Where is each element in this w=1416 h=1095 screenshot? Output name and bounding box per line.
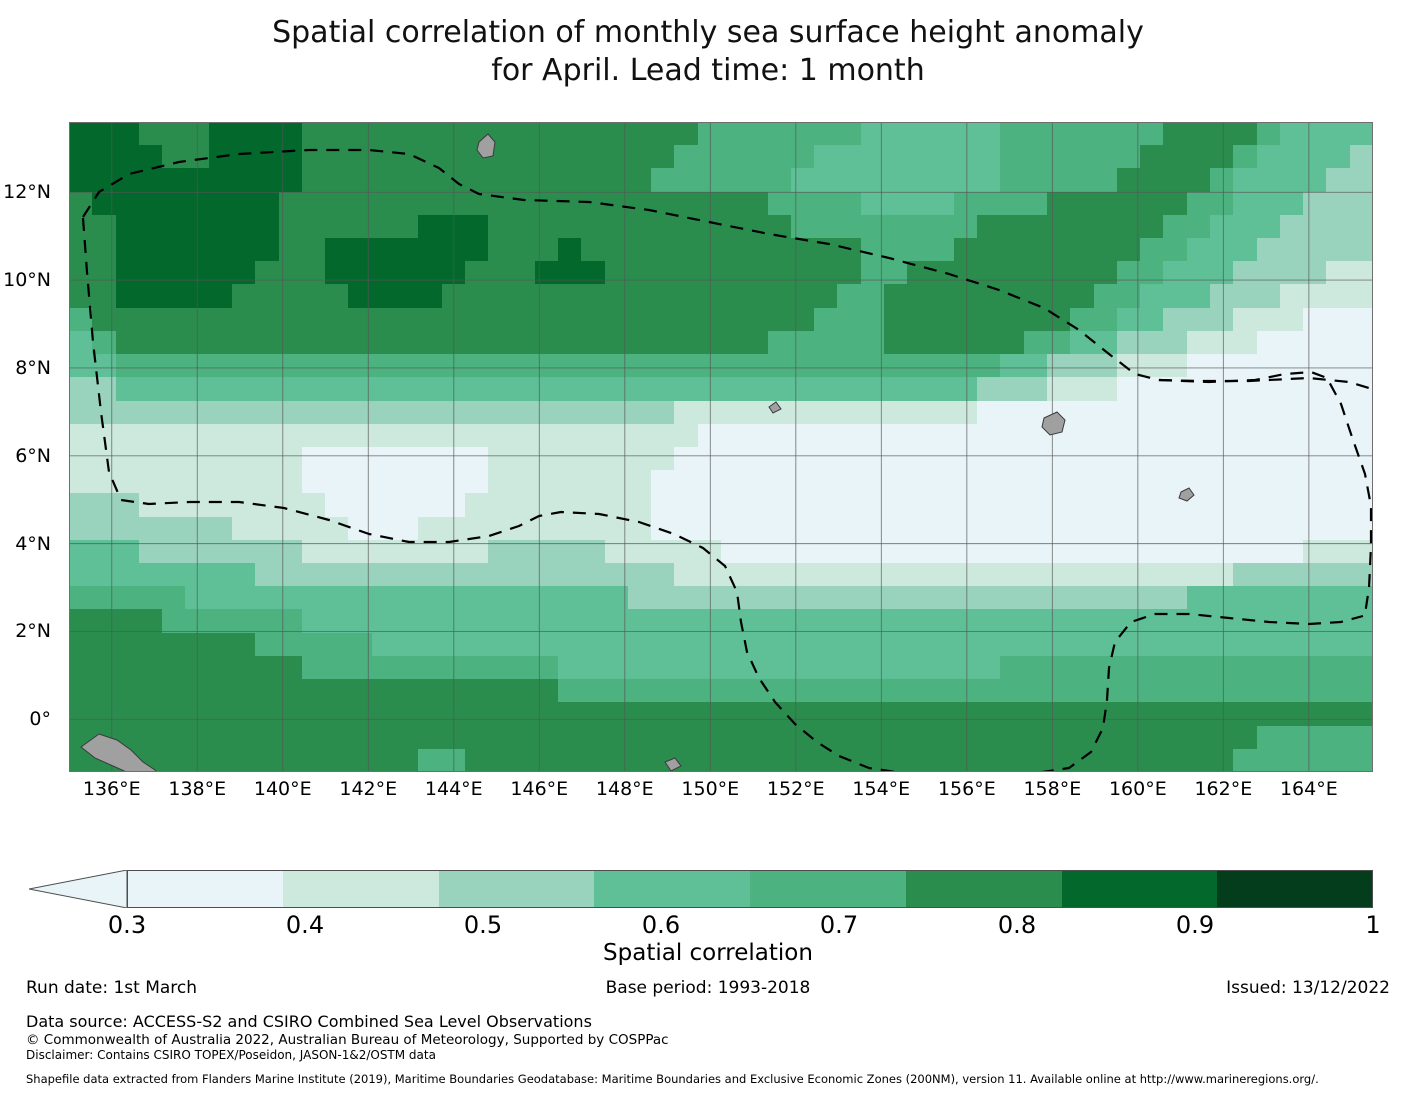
heatmap-cell	[1163, 493, 1186, 516]
heatmap-cell	[1233, 424, 1256, 447]
heatmap-cell	[1094, 308, 1117, 331]
heatmap-cell	[465, 470, 488, 493]
heatmap-cell	[931, 586, 954, 609]
heatmap-cell	[1210, 447, 1233, 470]
heatmap-cell	[302, 679, 325, 702]
heatmap-cell	[1000, 540, 1023, 563]
heatmap-cell	[954, 633, 977, 656]
heatmap-cell	[1024, 377, 1047, 400]
heatmap-cell	[279, 540, 302, 563]
heatmap-cell	[1140, 749, 1163, 772]
heatmap-cell	[1350, 447, 1373, 470]
heatmap-cell	[279, 168, 302, 191]
heatmap-cell	[977, 401, 1000, 424]
heatmap-cell	[954, 192, 977, 215]
heatmap-cell	[302, 540, 325, 563]
heatmap-cell	[768, 609, 791, 632]
heatmap-cell	[1210, 354, 1233, 377]
heatmap-cell	[1024, 586, 1047, 609]
heatmap-cell	[744, 447, 767, 470]
heatmap-cell	[348, 331, 371, 354]
heatmap-cell	[209, 493, 232, 516]
heatmap-cell	[1070, 122, 1093, 145]
heatmap-cell	[279, 702, 302, 725]
heatmap-cell	[488, 749, 511, 772]
heatmap-cell	[1117, 122, 1140, 145]
heatmap-cell	[372, 122, 395, 145]
heatmap-cell	[442, 261, 465, 284]
heatmap-cell	[325, 470, 348, 493]
data-source-text: Data source: ACCESS-S2 and CSIRO Combine…	[26, 1012, 1406, 1032]
heatmap-cell	[232, 377, 255, 400]
heatmap-cell	[1210, 145, 1233, 168]
heatmap-cell	[907, 284, 930, 307]
heatmap-cell	[511, 586, 534, 609]
heatmap-cell	[1140, 540, 1163, 563]
heatmap-cell	[1257, 563, 1280, 586]
heatmap-cell	[907, 377, 930, 400]
heatmap-cell	[814, 749, 837, 772]
heatmap-cell	[954, 284, 977, 307]
heatmap-cell	[721, 656, 744, 679]
heatmap-cell	[372, 749, 395, 772]
heatmap-cell	[674, 540, 697, 563]
heatmap-cell	[395, 401, 418, 424]
heatmap-cell	[511, 726, 534, 749]
heatmap-cell	[558, 331, 581, 354]
heatmap-cell	[861, 470, 884, 493]
heatmap-cell	[511, 609, 534, 632]
heatmap-cell	[1280, 517, 1303, 540]
heatmap-cell	[814, 563, 837, 586]
heatmap-cell	[651, 354, 674, 377]
heatmap-cell	[837, 238, 860, 261]
x-axis-tick-label: 148°E	[596, 778, 654, 800]
heatmap-cell	[162, 702, 185, 725]
heatmap-cell	[185, 168, 208, 191]
heatmap-cell	[1140, 331, 1163, 354]
heatmap-cell	[1280, 749, 1303, 772]
heatmap-cell	[861, 261, 884, 284]
heatmap-cell	[954, 702, 977, 725]
heatmap-cell	[931, 447, 954, 470]
heatmap-cell	[1350, 168, 1373, 191]
heatmap-cell	[1326, 192, 1349, 215]
heatmap-cell	[931, 540, 954, 563]
heatmap-cell	[488, 447, 511, 470]
heatmap-cell	[907, 192, 930, 215]
heatmap-cell	[511, 702, 534, 725]
heatmap-cell	[1140, 493, 1163, 516]
heatmap-cell	[861, 563, 884, 586]
heatmap-cell	[348, 215, 371, 238]
heatmap-cell	[651, 702, 674, 725]
heatmap-cell	[232, 308, 255, 331]
heatmap-cell	[395, 470, 418, 493]
heatmap-cell	[139, 354, 162, 377]
heatmap-cell	[325, 284, 348, 307]
heatmap-cell	[418, 354, 441, 377]
heatmap-cell	[674, 284, 697, 307]
heatmap-cell	[558, 656, 581, 679]
heatmap-cell	[628, 215, 651, 238]
map-plot-area[interactable]	[69, 122, 1373, 772]
x-axis-tick-label: 150°E	[681, 778, 739, 800]
heatmap-cell	[325, 261, 348, 284]
heatmap-cell	[605, 122, 628, 145]
heatmap-cell	[861, 284, 884, 307]
heatmap-cell	[954, 447, 977, 470]
heatmap-cell	[442, 540, 465, 563]
heatmap-cell	[814, 656, 837, 679]
heatmap-cell	[1024, 215, 1047, 238]
heatmap-cell	[1094, 679, 1117, 702]
heatmap-cell	[1000, 122, 1023, 145]
heatmap-cell	[1024, 122, 1047, 145]
heatmap-cell	[348, 354, 371, 377]
heatmap-cell	[628, 424, 651, 447]
heatmap-cell	[674, 424, 697, 447]
heatmap-cell	[1326, 145, 1349, 168]
heatmap-cell	[861, 493, 884, 516]
heatmap-cell	[605, 517, 628, 540]
heatmap-cell	[185, 354, 208, 377]
heatmap-cell	[907, 447, 930, 470]
heatmap-cell	[395, 308, 418, 331]
heatmap-cell	[1326, 168, 1349, 191]
heatmap-cell	[1187, 215, 1210, 238]
heatmap-cell	[465, 633, 488, 656]
heatmap-cell	[488, 192, 511, 215]
heatmap-cell	[721, 447, 744, 470]
heatmap-cell	[558, 517, 581, 540]
heatmap-cell	[325, 563, 348, 586]
heatmap-cell	[116, 493, 139, 516]
heatmap-cell	[69, 238, 92, 261]
heatmap-cell	[791, 633, 814, 656]
heatmap-cell	[1187, 354, 1210, 377]
heatmap-cell	[1163, 192, 1186, 215]
heatmap-cell	[768, 145, 791, 168]
heatmap-cell	[1326, 540, 1349, 563]
heatmap-cell	[372, 517, 395, 540]
heatmap-cell	[884, 749, 907, 772]
heatmap-cell	[1350, 540, 1373, 563]
heatmap-cell	[721, 633, 744, 656]
heatmap-cell	[861, 308, 884, 331]
heatmap-cell	[209, 354, 232, 377]
heatmap-cell	[1326, 215, 1349, 238]
heatmap-cell	[418, 517, 441, 540]
heatmap-cell	[721, 609, 744, 632]
heatmap-cell	[418, 609, 441, 632]
heatmap-cell	[674, 586, 697, 609]
heatmap-cell	[325, 377, 348, 400]
heatmap-cell	[255, 284, 278, 307]
heatmap-cell	[255, 308, 278, 331]
heatmap-cell	[185, 331, 208, 354]
heatmap-cell	[488, 563, 511, 586]
heatmap-cell	[511, 493, 534, 516]
heatmap-cell	[1210, 726, 1233, 749]
heatmap-cell	[116, 168, 139, 191]
heatmap-cell	[884, 586, 907, 609]
heatmap-cell	[92, 447, 115, 470]
heatmap-cell	[348, 261, 371, 284]
heatmap-cell	[511, 331, 534, 354]
heatmap-cell	[1257, 215, 1280, 238]
heatmap-cell	[605, 702, 628, 725]
heatmap-cell	[954, 470, 977, 493]
heatmap-cell	[1070, 401, 1093, 424]
heatmap-cell	[535, 122, 558, 145]
heatmap-cell	[977, 470, 1000, 493]
heatmap-cell	[674, 354, 697, 377]
heatmap-cell	[1163, 563, 1186, 586]
title-line-1: Spatial correlation of monthly sea surfa…	[0, 14, 1416, 52]
heatmap-cell	[1280, 238, 1303, 261]
heatmap-cell	[721, 563, 744, 586]
heatmap-cell	[1210, 540, 1233, 563]
heatmap-cell	[418, 656, 441, 679]
heatmap-cell	[1024, 702, 1047, 725]
heatmap-cell	[209, 563, 232, 586]
heatmap-cell	[395, 702, 418, 725]
heatmap-cell	[465, 331, 488, 354]
heatmap-cell	[977, 331, 1000, 354]
heatmap-cell	[698, 470, 721, 493]
heatmap-cell	[209, 470, 232, 493]
heatmap-cell	[837, 563, 860, 586]
heatmap-cell	[209, 586, 232, 609]
heatmap-cell	[1233, 377, 1256, 400]
heatmap-cell	[814, 354, 837, 377]
heatmap-cell	[1233, 656, 1256, 679]
heatmap-cell	[139, 447, 162, 470]
heatmap-cell	[69, 517, 92, 540]
heatmap-cell	[348, 702, 371, 725]
heatmap-cell	[69, 284, 92, 307]
heatmap-cell	[698, 238, 721, 261]
heatmap-cell	[884, 447, 907, 470]
heatmap-cell	[907, 470, 930, 493]
heatmap-cell	[884, 470, 907, 493]
heatmap-cell	[1047, 633, 1070, 656]
colorbar-label: Spatial correlation	[0, 940, 1416, 966]
heatmap-cell	[1000, 656, 1023, 679]
heatmap-cell	[1000, 377, 1023, 400]
heatmap-cell	[1326, 122, 1349, 145]
heatmap-cell	[1024, 633, 1047, 656]
heatmap-cell	[1280, 331, 1303, 354]
heatmap-cell	[1257, 517, 1280, 540]
heatmap-cell	[814, 424, 837, 447]
heatmap-cell	[325, 122, 348, 145]
heatmap-cell	[698, 586, 721, 609]
heatmap-cell	[558, 308, 581, 331]
heatmap-cell	[1326, 702, 1349, 725]
heatmap-cell	[418, 679, 441, 702]
heatmap-cell	[1303, 540, 1326, 563]
heatmap-cell	[1117, 331, 1140, 354]
heatmap-cell	[1094, 493, 1117, 516]
heatmap-cell	[1024, 308, 1047, 331]
heatmap-cell	[209, 540, 232, 563]
heatmap-cell	[791, 192, 814, 215]
heatmap-cell	[698, 609, 721, 632]
heatmap-cell	[581, 679, 604, 702]
heatmap-cell	[744, 284, 767, 307]
heatmap-cell	[511, 424, 534, 447]
heatmap-cell	[1000, 192, 1023, 215]
heatmap-cell	[535, 331, 558, 354]
heatmap-cell	[907, 586, 930, 609]
heatmap-cell	[1326, 331, 1349, 354]
heatmap-cell	[535, 377, 558, 400]
heatmap-cell	[837, 749, 860, 772]
heatmap-cell	[1303, 284, 1326, 307]
heatmap-cell	[139, 726, 162, 749]
heatmap-cell	[232, 633, 255, 656]
heatmap-cell	[92, 702, 115, 725]
heatmap-cell	[1187, 517, 1210, 540]
heatmap-cell	[511, 122, 534, 145]
heatmap-cell	[116, 517, 139, 540]
colorbar-segment	[906, 870, 1062, 908]
issued-date-text: Issued: 13/12/2022	[1226, 978, 1390, 998]
y-axis-tick-label: 4°N	[0, 533, 60, 555]
heatmap-cell	[325, 702, 348, 725]
heatmap-cell	[162, 470, 185, 493]
heatmap-cell	[1187, 192, 1210, 215]
colorbar-segment	[127, 870, 283, 908]
heatmap-cell	[581, 284, 604, 307]
heatmap-cell	[232, 517, 255, 540]
heatmap-cell	[1000, 284, 1023, 307]
heatmap-cell	[465, 749, 488, 772]
heatmap-cell	[558, 238, 581, 261]
heatmap-cell	[931, 354, 954, 377]
heatmap-cell	[1163, 215, 1186, 238]
heatmap-cell	[977, 586, 1000, 609]
heatmap-cell	[1047, 261, 1070, 284]
heatmap-cell	[372, 726, 395, 749]
heatmap-cell	[907, 633, 930, 656]
heatmap-cell	[395, 447, 418, 470]
heatmap-cell	[721, 284, 744, 307]
heatmap-cell	[628, 702, 651, 725]
heatmap-cell	[674, 168, 697, 191]
heatmap-cell	[1094, 563, 1117, 586]
heatmap-cell	[185, 679, 208, 702]
heatmap-cell	[1303, 586, 1326, 609]
heatmap-cell	[116, 609, 139, 632]
heatmap-cell	[511, 401, 534, 424]
heatmap-cell	[1094, 633, 1117, 656]
heatmap-cell	[535, 609, 558, 632]
heatmap-cell	[232, 749, 255, 772]
heatmap-cell	[861, 354, 884, 377]
heatmap-cell	[1350, 284, 1373, 307]
heatmap-cell	[1047, 238, 1070, 261]
heatmap-cell	[837, 308, 860, 331]
heatmap-cell	[651, 656, 674, 679]
heatmap-cell	[162, 609, 185, 632]
heatmap-cell	[92, 192, 115, 215]
heatmap-cell	[768, 633, 791, 656]
heatmap-cell	[977, 749, 1000, 772]
heatmap-cell	[279, 192, 302, 215]
heatmap-cell	[325, 192, 348, 215]
heatmap-cell	[1280, 192, 1303, 215]
heatmap-cell	[1233, 749, 1256, 772]
heatmap-cell	[1117, 192, 1140, 215]
heatmap-cell	[139, 702, 162, 725]
heatmap-cell	[1047, 540, 1070, 563]
heatmap-cell	[558, 563, 581, 586]
heatmap-cell	[255, 563, 278, 586]
heatmap-cell	[721, 586, 744, 609]
heatmap-cell	[628, 586, 651, 609]
heatmap-cell	[931, 261, 954, 284]
heatmap-cell	[1280, 470, 1303, 493]
heatmap-cell	[325, 308, 348, 331]
heatmap-cell	[442, 122, 465, 145]
heatmap-cell	[861, 702, 884, 725]
colorbar-tick-label: 1	[1365, 911, 1380, 939]
heatmap-cell	[768, 517, 791, 540]
heatmap-cell	[1047, 563, 1070, 586]
heatmap-cell	[768, 679, 791, 702]
heatmap-cell	[768, 540, 791, 563]
heatmap-cell	[1280, 354, 1303, 377]
heatmap-cell	[209, 215, 232, 238]
heatmap-cell	[861, 192, 884, 215]
heatmap-cell	[907, 702, 930, 725]
colorbar-swatches[interactable]	[127, 870, 1373, 908]
heatmap-cell	[418, 447, 441, 470]
heatmap-cell	[1000, 261, 1023, 284]
heatmap-cell	[1163, 401, 1186, 424]
heatmap-cell	[1094, 447, 1117, 470]
heatmap-cell	[1280, 377, 1303, 400]
heatmap-cell	[721, 331, 744, 354]
heatmap-cell	[1303, 447, 1326, 470]
heatmap-cell	[1187, 122, 1210, 145]
heatmap-cell	[209, 145, 232, 168]
heatmap-cell	[442, 633, 465, 656]
heatmap-cell	[605, 331, 628, 354]
heatmap-cell	[232, 586, 255, 609]
heatmap-cell	[255, 354, 278, 377]
heatmap-cell	[977, 609, 1000, 632]
heatmap-cell	[674, 261, 697, 284]
heatmap-cell	[395, 424, 418, 447]
heatmap-cell	[1047, 424, 1070, 447]
heatmap-cell	[348, 633, 371, 656]
heatmap-cell	[1163, 726, 1186, 749]
heatmap-cell	[372, 679, 395, 702]
heatmap-cell	[1024, 261, 1047, 284]
heatmap-cell	[209, 633, 232, 656]
heatmap-cell	[1233, 633, 1256, 656]
heatmap-cell	[837, 215, 860, 238]
heatmap-cell	[442, 215, 465, 238]
heatmap-cell	[931, 238, 954, 261]
heatmap-cell	[465, 493, 488, 516]
heatmap-cell	[814, 679, 837, 702]
heatmap-cell	[418, 633, 441, 656]
